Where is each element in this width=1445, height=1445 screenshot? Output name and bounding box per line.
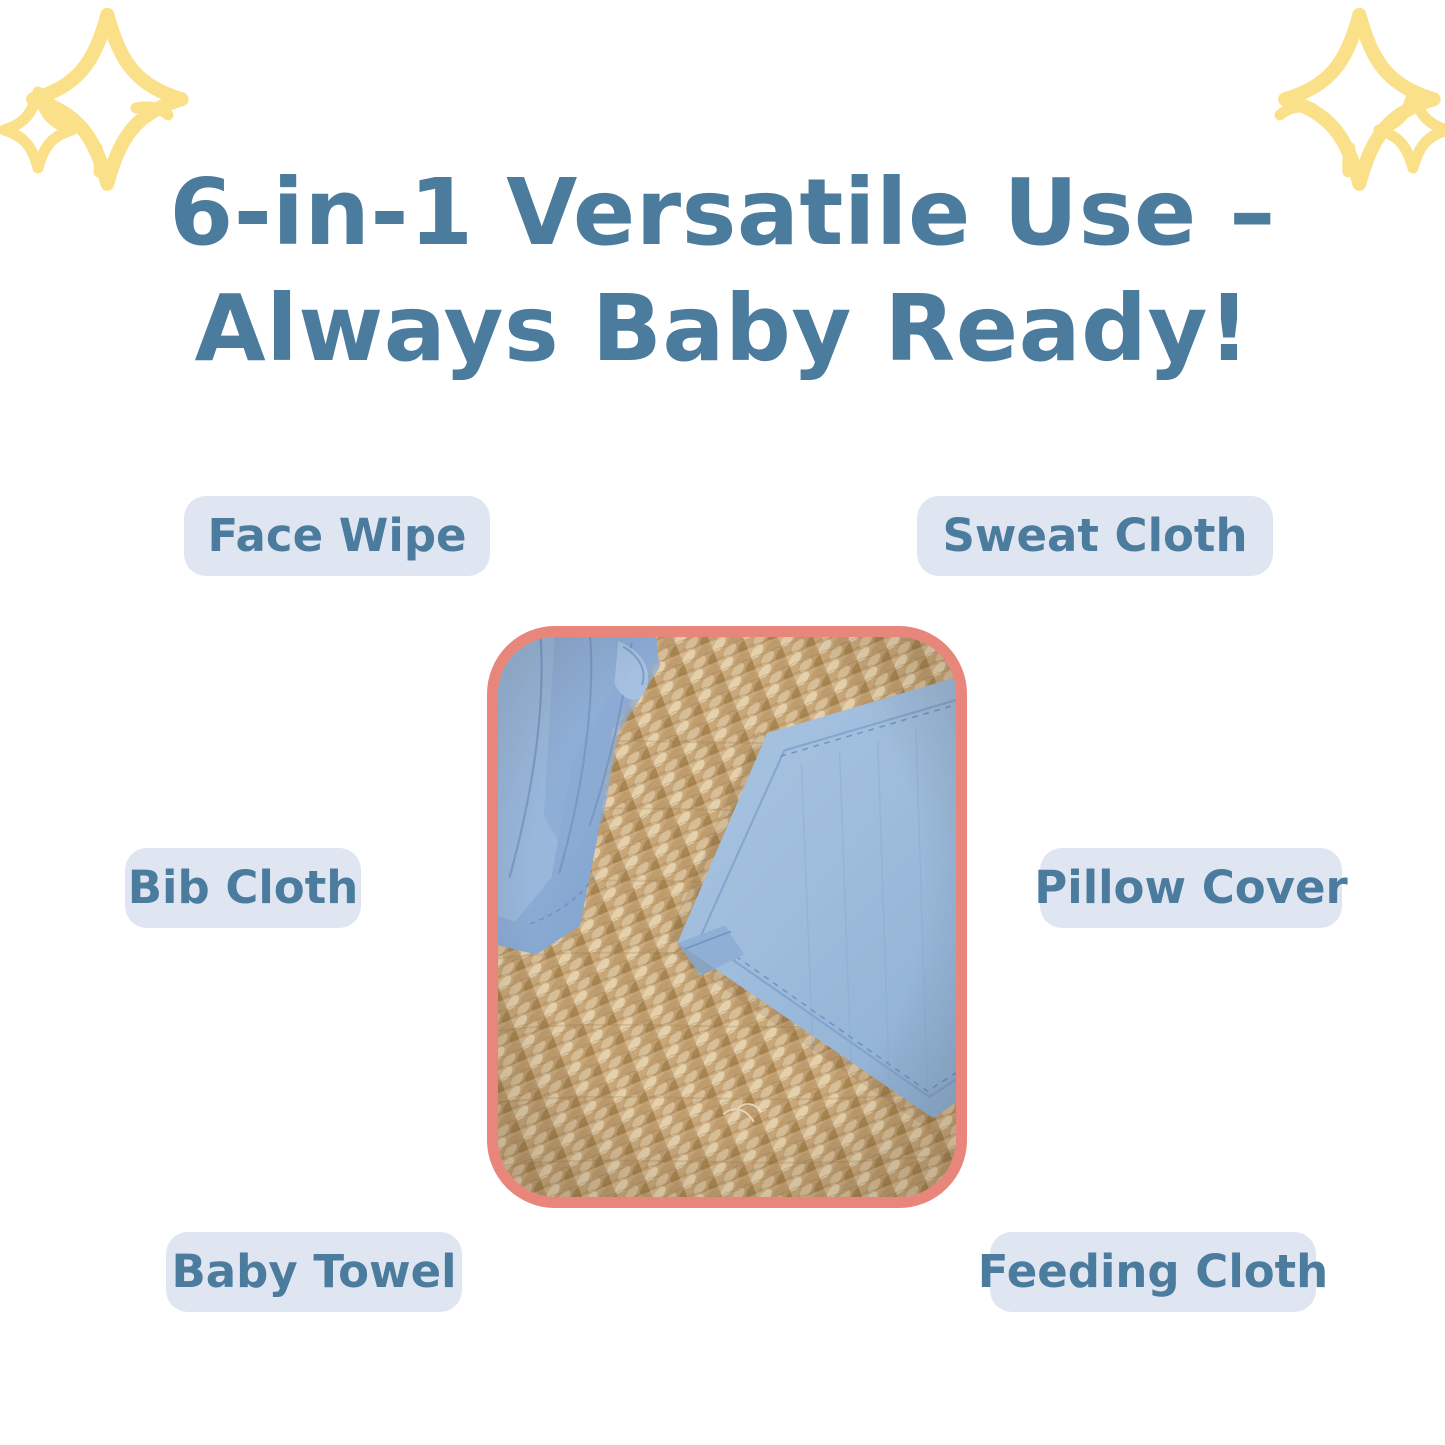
label-text-pillow-cover: Pillow Cover [1034,863,1347,913]
product-photo-illustration [498,637,956,1197]
sparkle-stroke-tl-a [136,107,168,115]
sparkle-stroke-tr-a [1280,107,1312,115]
label-pill-bib-cloth[interactable]: Bib Cloth [125,848,361,928]
label-pill-face-wipe[interactable]: Face Wipe [184,496,490,576]
title-line-2: Always Baby Ready! [0,271,1445,387]
label-text-bib-cloth: Bib Cloth [128,863,359,913]
label-pill-pillow-cover[interactable]: Pillow Cover [1040,848,1342,928]
label-pill-feeding-cloth[interactable]: Feeding Cloth [990,1232,1316,1312]
title-line-1: 6-in-1 Versatile Use – [0,155,1445,271]
label-pill-baby-towel[interactable]: Baby Towel [166,1232,462,1312]
page-title: 6-in-1 Versatile Use – Always Baby Ready… [0,155,1445,387]
infographic-canvas: 6-in-1 Versatile Use – Always Baby Ready… [0,0,1445,1445]
label-text-baby-towel: Baby Towel [171,1247,456,1297]
label-pill-sweat-cloth[interactable]: Sweat Cloth [917,496,1273,576]
label-text-sweat-cloth: Sweat Cloth [943,511,1248,561]
product-photo-frame [487,626,967,1208]
label-text-face-wipe: Face Wipe [207,511,466,561]
product-photo [498,637,956,1197]
label-text-feeding-cloth: Feeding Cloth [978,1247,1328,1297]
